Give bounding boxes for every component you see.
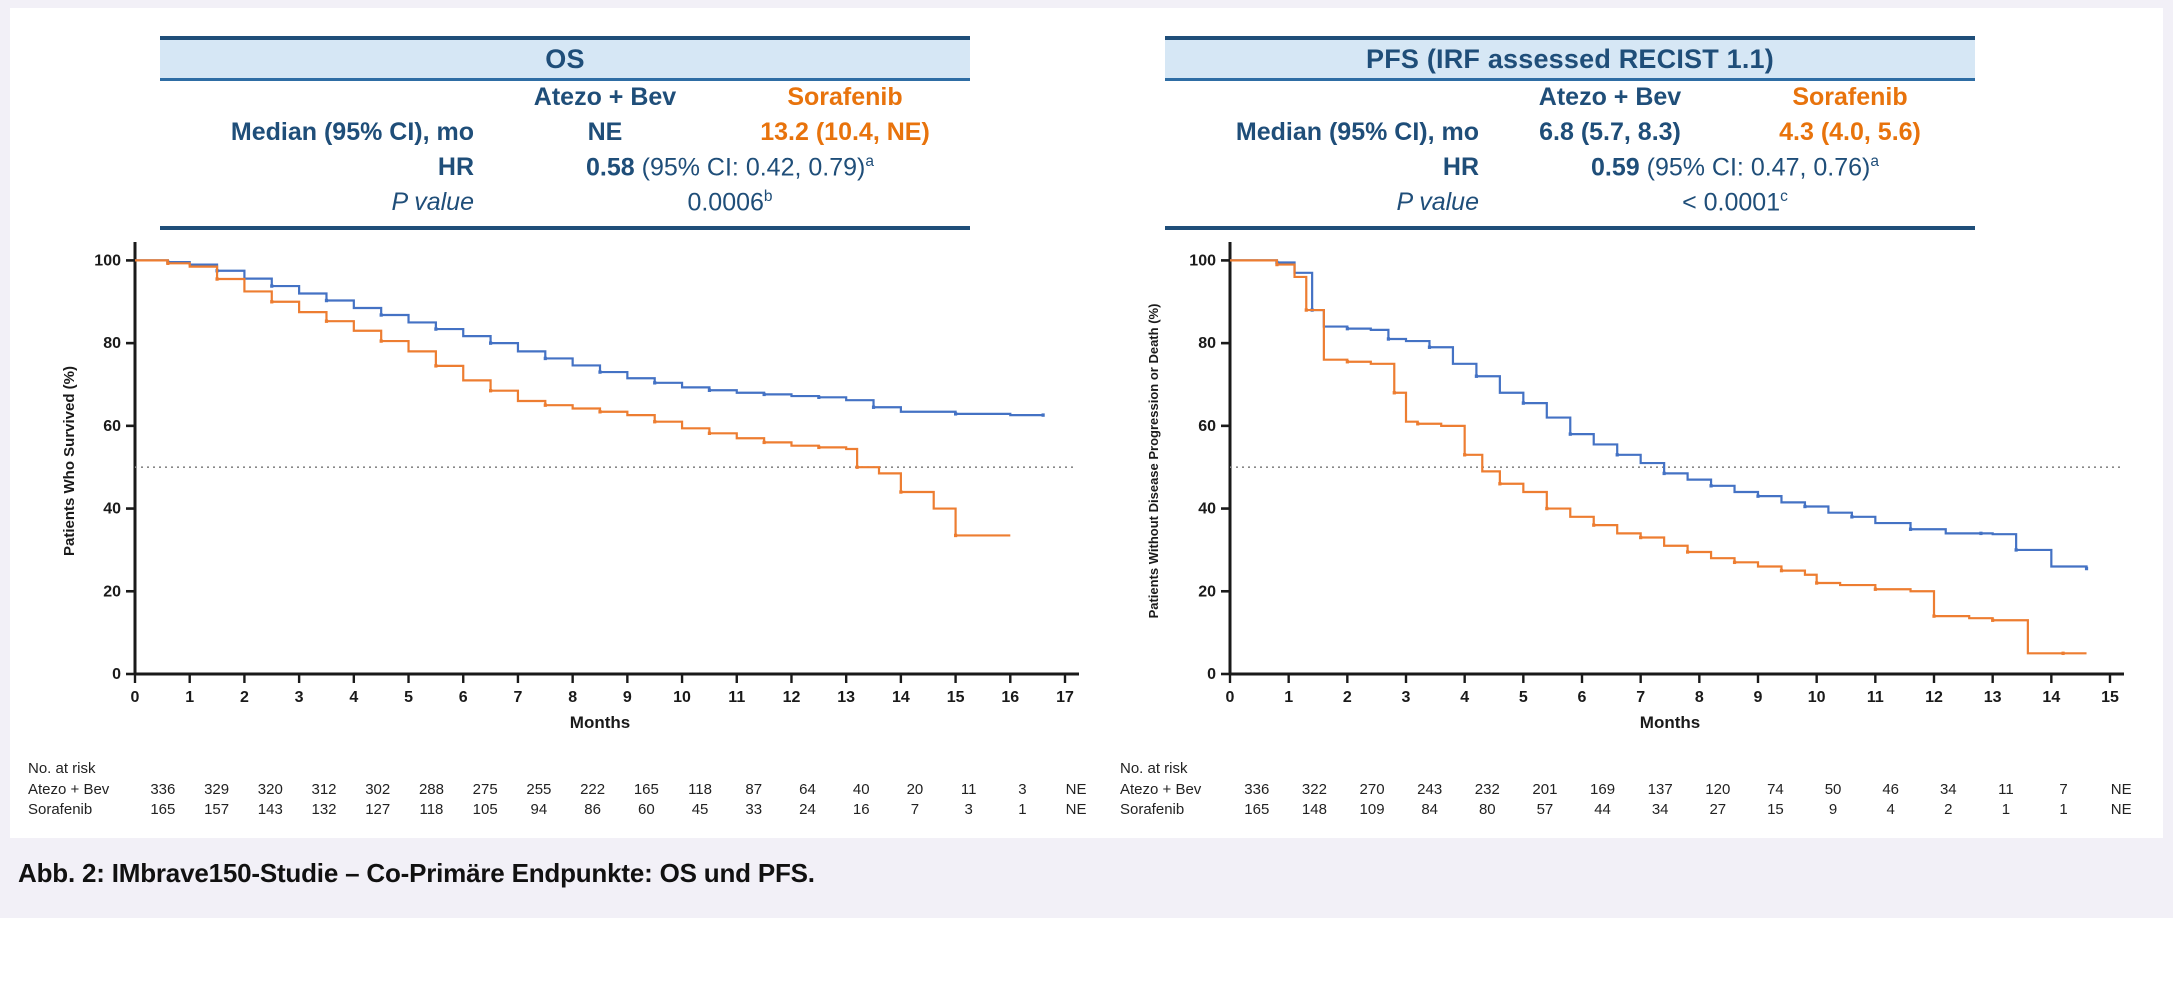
x-axis-label: Months bbox=[1640, 713, 1700, 732]
at-risk-value: 24 bbox=[781, 801, 835, 818]
x-tick-label: 10 bbox=[673, 689, 691, 706]
at-risk-value: 322 bbox=[1286, 781, 1344, 798]
at-risk-value: 288 bbox=[405, 781, 459, 798]
pfs-col-header-atezo: Atezo + Bev bbox=[1495, 83, 1725, 112]
x-tick-label: 0 bbox=[1226, 689, 1235, 706]
at-risk-value: 118 bbox=[405, 801, 459, 818]
figure-card: OS Atezo + Bev Sorafenib Median (95% CI)… bbox=[0, 0, 2173, 918]
x-tick-label: 13 bbox=[837, 689, 855, 706]
x-tick-label: 5 bbox=[404, 689, 413, 706]
y-tick-label: 100 bbox=[1189, 252, 1216, 269]
at-risk-value: 50 bbox=[1804, 781, 1862, 798]
os-at-risk-row-sorafenib: Sorafenib 165157143132127118105948660453… bbox=[28, 799, 1103, 819]
x-tick-label: 9 bbox=[623, 689, 632, 706]
x-tick-label: 0 bbox=[131, 689, 140, 706]
os-stats-table: OS Atezo + Bev Sorafenib Median (95% CI)… bbox=[160, 36, 970, 230]
os-at-risk-title: No. at risk bbox=[28, 760, 1103, 777]
pfs-stats-table: PFS (IRF assessed RECIST 1.1) Atezo + Be… bbox=[1165, 36, 1975, 230]
at-risk-value: 4 bbox=[1862, 801, 1920, 818]
at-risk-value: 9 bbox=[1804, 801, 1862, 818]
pfs-pvalue-number: < 0.0001 bbox=[1682, 188, 1780, 216]
at-risk-value: 312 bbox=[297, 781, 351, 798]
os-at-risk-values-sorafenib: 16515714313212711810594866045332416731NE bbox=[136, 801, 1103, 818]
at-risk-value: 94 bbox=[512, 801, 566, 818]
panels-container: OS Atezo + Bev Sorafenib Median (95% CI)… bbox=[10, 8, 2163, 838]
x-tick-label: 7 bbox=[513, 689, 522, 706]
at-risk-value: 87 bbox=[727, 781, 781, 798]
at-risk-value: 320 bbox=[243, 781, 297, 798]
pfs-stat-rows: Atezo + Bev Sorafenib Median (95% CI), m… bbox=[1165, 81, 1975, 230]
y-tick-label: 20 bbox=[1198, 583, 1216, 600]
os-col-header-atezo: Atezo + Bev bbox=[490, 83, 720, 112]
os-title: OS bbox=[545, 46, 584, 73]
pfs-row-median: Median (95% CI), mo 6.8 (5.7, 8.3) 4.3 (… bbox=[1165, 118, 1975, 153]
y-tick-label: 100 bbox=[94, 252, 121, 269]
pfs-row-median-label: Median (95% CI), mo bbox=[1165, 118, 1495, 147]
y-axis-label: Patients Without Disease Progression or … bbox=[1146, 304, 1161, 619]
os-plot: Patients Who Survived (%)020406080100012… bbox=[40, 226, 1100, 746]
at-risk-value: 270 bbox=[1343, 781, 1401, 798]
os-hr-footnote: a bbox=[865, 153, 874, 170]
km-curve-sorafenib bbox=[135, 260, 1010, 535]
at-risk-value: 201 bbox=[1516, 781, 1574, 798]
pfs-at-risk-values-atezo: 33632227024323220116913712074504634117NE bbox=[1228, 781, 2150, 798]
os-row-median: Median (95% CI), mo NE 13.2 (10.4, NE) bbox=[160, 118, 970, 153]
panel-os: OS Atezo + Bev Sorafenib Median (95% CI)… bbox=[10, 8, 1120, 838]
at-risk-value: 109 bbox=[1343, 801, 1401, 818]
pfs-pvalue-footnote: c bbox=[1780, 188, 1788, 205]
at-risk-value: 74 bbox=[1747, 781, 1805, 798]
at-risk-value: 7 bbox=[888, 801, 942, 818]
at-risk-value: 255 bbox=[512, 781, 566, 798]
os-median-sorafenib: 13.2 (10.4, NE) bbox=[720, 118, 970, 147]
os-km-chart: Patients Who Survived (%)020406080100012… bbox=[40, 226, 1100, 746]
at-risk-value: 336 bbox=[1228, 781, 1286, 798]
pfs-hr-ci: (95% CI: 0.47, 0.76) bbox=[1640, 153, 1871, 181]
at-risk-value: NE bbox=[1049, 801, 1103, 818]
at-risk-value: 84 bbox=[1401, 801, 1459, 818]
pfs-at-risk-name-atezo: Atezo + Bev bbox=[1120, 781, 1228, 798]
y-tick-label: 60 bbox=[1198, 418, 1216, 435]
x-tick-label: 3 bbox=[1402, 689, 1411, 706]
os-at-risk-name-sorafenib: Sorafenib bbox=[28, 801, 136, 818]
at-risk-value: 1 bbox=[2035, 801, 2093, 818]
os-at-risk-row-atezo: Atezo + Bev 3363293203123022882752552221… bbox=[28, 779, 1103, 799]
at-risk-value: 169 bbox=[1574, 781, 1632, 798]
at-risk-value: 165 bbox=[1228, 801, 1286, 818]
os-pvalue-value: 0.0006b bbox=[490, 188, 970, 217]
pfs-row-pvalue-label: P value bbox=[1165, 188, 1495, 217]
x-tick-label: 11 bbox=[1867, 689, 1884, 706]
at-risk-value: 46 bbox=[1862, 781, 1920, 798]
x-tick-label: 13 bbox=[1984, 689, 2002, 706]
at-risk-value: 60 bbox=[619, 801, 673, 818]
pfs-hr-footnote: a bbox=[1870, 153, 1879, 170]
pfs-at-risk-row-sorafenib: Sorafenib 1651481098480574434271594211NE bbox=[1120, 799, 2150, 819]
at-risk-value: 33 bbox=[727, 801, 781, 818]
at-risk-value: 80 bbox=[1459, 801, 1517, 818]
pfs-at-risk-values-sorafenib: 1651481098480574434271594211NE bbox=[1228, 801, 2150, 818]
x-tick-label: 14 bbox=[2042, 689, 2060, 706]
os-hr-value: 0.58 (95% CI: 0.42, 0.79)a bbox=[490, 153, 970, 182]
at-risk-value: 11 bbox=[942, 781, 996, 798]
at-risk-value: 45 bbox=[673, 801, 727, 818]
os-pvalue-label-text: P value bbox=[392, 188, 474, 216]
x-axis-label: Months bbox=[570, 713, 630, 732]
pfs-row-pvalue: P value < 0.0001c bbox=[1165, 188, 1975, 223]
x-tick-label: 12 bbox=[1925, 689, 1943, 706]
pfs-column-header-row: Atezo + Bev Sorafenib bbox=[1165, 83, 1975, 118]
os-median-atezo: NE bbox=[490, 118, 720, 147]
at-risk-value: 2 bbox=[1920, 801, 1978, 818]
panel-pfs: PFS (IRF assessed RECIST 1.1) Atezo + Be… bbox=[1120, 8, 2163, 838]
at-risk-value: 16 bbox=[834, 801, 888, 818]
os-hr-point: 0.58 bbox=[586, 153, 635, 181]
at-risk-value: 3 bbox=[996, 781, 1050, 798]
x-tick-label: 14 bbox=[892, 689, 910, 706]
at-risk-value: 302 bbox=[351, 781, 405, 798]
at-risk-value: 275 bbox=[458, 781, 512, 798]
x-tick-label: 8 bbox=[1695, 689, 1704, 706]
at-risk-value: 7 bbox=[2035, 781, 2093, 798]
at-risk-value: 105 bbox=[458, 801, 512, 818]
km-curve-atezo-bev bbox=[1230, 260, 2087, 568]
at-risk-value: 137 bbox=[1631, 781, 1689, 798]
x-tick-label: 6 bbox=[1578, 689, 1587, 706]
x-tick-label: 5 bbox=[1519, 689, 1528, 706]
pfs-col-header-sorafenib: Sorafenib bbox=[1725, 83, 1975, 112]
at-risk-value: NE bbox=[1049, 781, 1103, 798]
at-risk-value: 232 bbox=[1459, 781, 1517, 798]
at-risk-value: 148 bbox=[1286, 801, 1344, 818]
at-risk-value: 11 bbox=[1977, 781, 2035, 798]
at-risk-value: 3 bbox=[942, 801, 996, 818]
at-risk-value: 64 bbox=[781, 781, 835, 798]
at-risk-value: 34 bbox=[1631, 801, 1689, 818]
at-risk-value: 120 bbox=[1689, 781, 1747, 798]
pfs-title-bar: PFS (IRF assessed RECIST 1.1) bbox=[1165, 36, 1975, 81]
pfs-pvalue-value: < 0.0001c bbox=[1495, 188, 1975, 217]
pfs-title: PFS (IRF assessed RECIST 1.1) bbox=[1366, 46, 1774, 73]
pfs-at-risk-table: No. at risk Atezo + Bev 3363222702432322… bbox=[1120, 760, 2150, 819]
at-risk-value: 27 bbox=[1689, 801, 1747, 818]
figure-caption: Abb. 2: IMbrave150-Studie – Co-Primäre E… bbox=[18, 858, 815, 889]
at-risk-value: 132 bbox=[297, 801, 351, 818]
y-tick-label: 80 bbox=[103, 335, 121, 352]
os-title-bar: OS bbox=[160, 36, 970, 81]
x-tick-label: 4 bbox=[349, 689, 358, 706]
os-stat-rows: Atezo + Bev Sorafenib Median (95% CI), m… bbox=[160, 81, 970, 230]
y-tick-label: 40 bbox=[103, 501, 121, 518]
pfs-hr-value: 0.59 (95% CI: 0.47, 0.76)a bbox=[1495, 153, 1975, 182]
at-risk-value: 222 bbox=[566, 781, 620, 798]
at-risk-value: 127 bbox=[351, 801, 405, 818]
x-tick-label: 17 bbox=[1056, 689, 1074, 706]
os-column-header-row: Atezo + Bev Sorafenib bbox=[160, 83, 970, 118]
os-row-pvalue: P value 0.0006b bbox=[160, 188, 970, 223]
at-risk-value: 15 bbox=[1747, 801, 1805, 818]
os-hr-ci: (95% CI: 0.42, 0.79) bbox=[635, 153, 866, 181]
pfs-at-risk-title: No. at risk bbox=[1120, 760, 2150, 777]
at-risk-value: 40 bbox=[834, 781, 888, 798]
at-risk-value: 157 bbox=[190, 801, 244, 818]
at-risk-value: 336 bbox=[136, 781, 190, 798]
pfs-pvalue-label-text: P value bbox=[1397, 188, 1479, 216]
os-at-risk-name-atezo: Atezo + Bev bbox=[28, 781, 136, 798]
pfs-median-atezo: 6.8 (5.7, 8.3) bbox=[1495, 118, 1725, 147]
x-tick-label: 9 bbox=[1754, 689, 1763, 706]
x-tick-label: 2 bbox=[240, 689, 249, 706]
pfs-at-risk-row-atezo: Atezo + Bev 3363222702432322011691371207… bbox=[1120, 779, 2150, 799]
pfs-km-chart: Patients Without Disease Progression or … bbox=[1130, 226, 2140, 746]
os-pvalue-footnote: b bbox=[764, 188, 773, 205]
os-pvalue-number: 0.0006 bbox=[687, 188, 763, 216]
pfs-median-sorafenib: 4.3 (4.0, 5.6) bbox=[1725, 118, 1975, 147]
at-risk-value: 165 bbox=[619, 781, 673, 798]
y-axis-label: Patients Who Survived (%) bbox=[61, 366, 78, 556]
at-risk-value: NE bbox=[2092, 801, 2150, 818]
y-tick-label: 40 bbox=[1198, 501, 1216, 518]
at-risk-value: 165 bbox=[136, 801, 190, 818]
y-tick-label: 80 bbox=[1198, 335, 1216, 352]
km-curve-atezo-bev bbox=[135, 260, 1043, 415]
x-tick-label: 15 bbox=[947, 689, 965, 706]
os-at-risk-values-atezo: 3363293203123022882752552221651188764402… bbox=[136, 781, 1103, 798]
at-risk-value: 34 bbox=[1920, 781, 1978, 798]
y-tick-label: 0 bbox=[1207, 666, 1216, 683]
at-risk-value: 1 bbox=[996, 801, 1050, 818]
x-tick-label: 8 bbox=[568, 689, 577, 706]
x-tick-label: 16 bbox=[1001, 689, 1019, 706]
os-row-pvalue-label: P value bbox=[160, 188, 490, 217]
x-tick-label: 6 bbox=[459, 689, 468, 706]
x-tick-label: 15 bbox=[2101, 689, 2119, 706]
figure-inner: OS Atezo + Bev Sorafenib Median (95% CI)… bbox=[10, 8, 2163, 838]
os-row-median-label: Median (95% CI), mo bbox=[160, 118, 490, 147]
y-tick-label: 0 bbox=[112, 666, 121, 683]
at-risk-value: 1 bbox=[1977, 801, 2035, 818]
x-tick-label: 1 bbox=[1284, 689, 1293, 706]
x-tick-label: 1 bbox=[185, 689, 194, 706]
x-tick-label: 3 bbox=[295, 689, 304, 706]
at-risk-value: 329 bbox=[190, 781, 244, 798]
pfs-at-risk-name-sorafenib: Sorafenib bbox=[1120, 801, 1228, 818]
pfs-plot: Patients Without Disease Progression or … bbox=[1130, 226, 2140, 746]
at-risk-value: 57 bbox=[1516, 801, 1574, 818]
os-at-risk-table: No. at risk Atezo + Bev 3363293203123022… bbox=[28, 760, 1103, 819]
y-tick-label: 20 bbox=[103, 583, 121, 600]
at-risk-value: 243 bbox=[1401, 781, 1459, 798]
x-tick-label: 7 bbox=[1636, 689, 1645, 706]
x-tick-label: 4 bbox=[1460, 689, 1469, 706]
y-tick-label: 60 bbox=[103, 418, 121, 435]
at-risk-value: 86 bbox=[566, 801, 620, 818]
os-col-header-sorafenib: Sorafenib bbox=[720, 83, 970, 112]
at-risk-value: 44 bbox=[1574, 801, 1632, 818]
os-row-hr-label: HR bbox=[160, 153, 490, 182]
at-risk-value: 143 bbox=[243, 801, 297, 818]
at-risk-value: 20 bbox=[888, 781, 942, 798]
at-risk-value: 118 bbox=[673, 781, 727, 798]
pfs-hr-point: 0.59 bbox=[1591, 153, 1640, 181]
x-tick-label: 12 bbox=[783, 689, 801, 706]
pfs-row-hr: HR 0.59 (95% CI: 0.47, 0.76)a bbox=[1165, 153, 1975, 188]
x-tick-label: 11 bbox=[728, 689, 745, 706]
x-tick-label: 2 bbox=[1343, 689, 1352, 706]
pfs-row-hr-label: HR bbox=[1165, 153, 1495, 182]
x-tick-label: 10 bbox=[1808, 689, 1826, 706]
os-row-hr: HR 0.58 (95% CI: 0.42, 0.79)a bbox=[160, 153, 970, 188]
at-risk-value: NE bbox=[2092, 781, 2150, 798]
km-curve-sorafenib bbox=[1230, 260, 2087, 653]
